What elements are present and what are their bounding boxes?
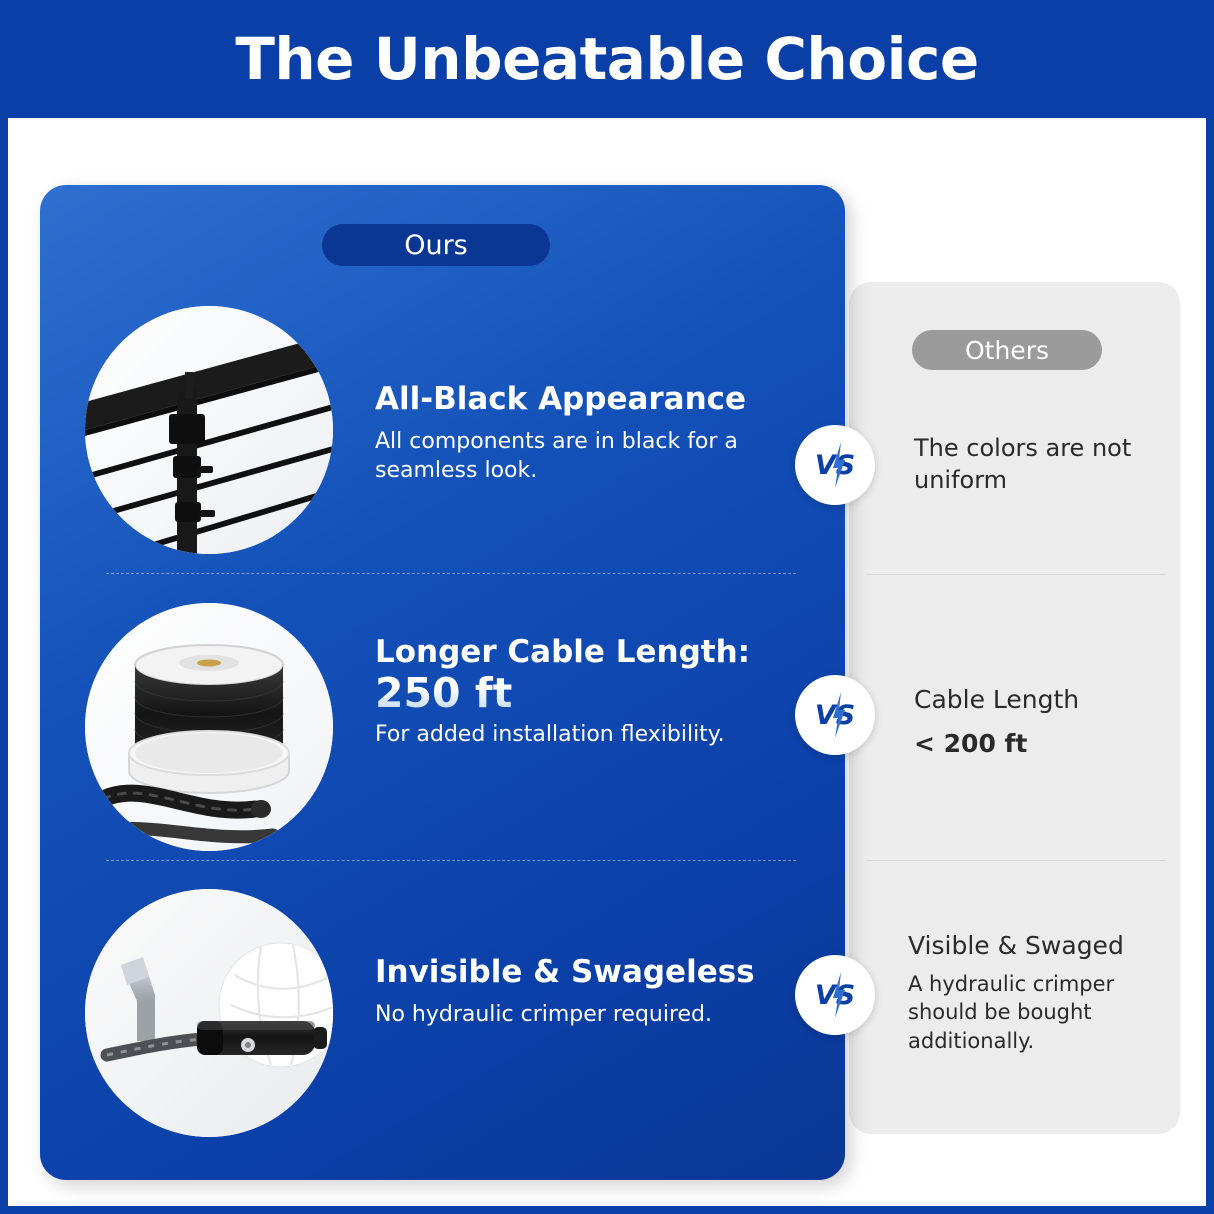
others-row-1-line: The colors are not uniform [914,432,1154,497]
others-row-2-head: Cable Length [914,684,1164,717]
comparison-infographic: The Unbeatable Choice Others Ours [0,0,1214,1214]
ours-row-2-title: Longer Cable Length: [375,635,795,671]
black-cable-spool-photo [85,603,333,851]
others-row-3-text: Visible & Swaged A hydraulic crimper sho… [908,930,1154,1056]
others-row-1-text: The colors are not uniform [914,432,1154,497]
frame-right-border [1206,0,1214,1214]
others-badge: Others [912,330,1102,370]
ours-row-2-subtitle: For added installation flexibility. [375,720,795,749]
page-title: The Unbeatable Choice [235,30,978,88]
lightning-bolt-icon [832,692,846,738]
black-cable-railing-post-photo [85,306,333,554]
others-row-2-bold: < 200 ft [914,727,1164,761]
others-row-3-small: A hydraulic crimper should be bought add… [908,970,1154,1057]
ours-row-1-text: All-Black Appearance All components are … [375,382,785,485]
ours-row-1-subtitle: All components are in black for a seamle… [375,427,785,486]
frame-left-border [0,0,8,1214]
vs-badge-2: VS [795,675,875,755]
frame-bottom-border [0,1206,1214,1214]
lightning-bolt-icon [832,972,846,1018]
others-divider-2 [866,860,1166,861]
ours-row-3-subtitle: No hydraulic crimper required. [375,1000,795,1029]
ours-row-2-text: Longer Cable Length: 250 ft For added in… [375,635,795,749]
ours-badge: Ours [322,224,550,266]
swageless-fitting-hex-key-photo [85,889,333,1137]
lightning-bolt-icon [832,442,846,488]
ours-divider-2 [106,860,796,861]
others-badge-label: Others [965,336,1049,365]
ours-row-3-text: Invisible & Swageless No hydraulic crimp… [375,955,795,1029]
vs-badge-3: VS [795,955,875,1035]
ours-row-2-highlight: 250 ft [375,671,795,716]
vs-badge-1: VS [795,425,875,505]
ours-badge-label: Ours [404,230,468,261]
ours-divider-1 [106,573,796,574]
ours-row-3-title: Invisible & Swageless [375,955,795,991]
ours-row-1-title: All-Black Appearance [375,382,785,418]
others-row-3-head: Visible & Swaged [908,930,1154,963]
others-divider-1 [866,574,1166,575]
header-banner: The Unbeatable Choice [0,0,1214,118]
others-row-2-text: Cable Length < 200 ft [914,684,1164,760]
